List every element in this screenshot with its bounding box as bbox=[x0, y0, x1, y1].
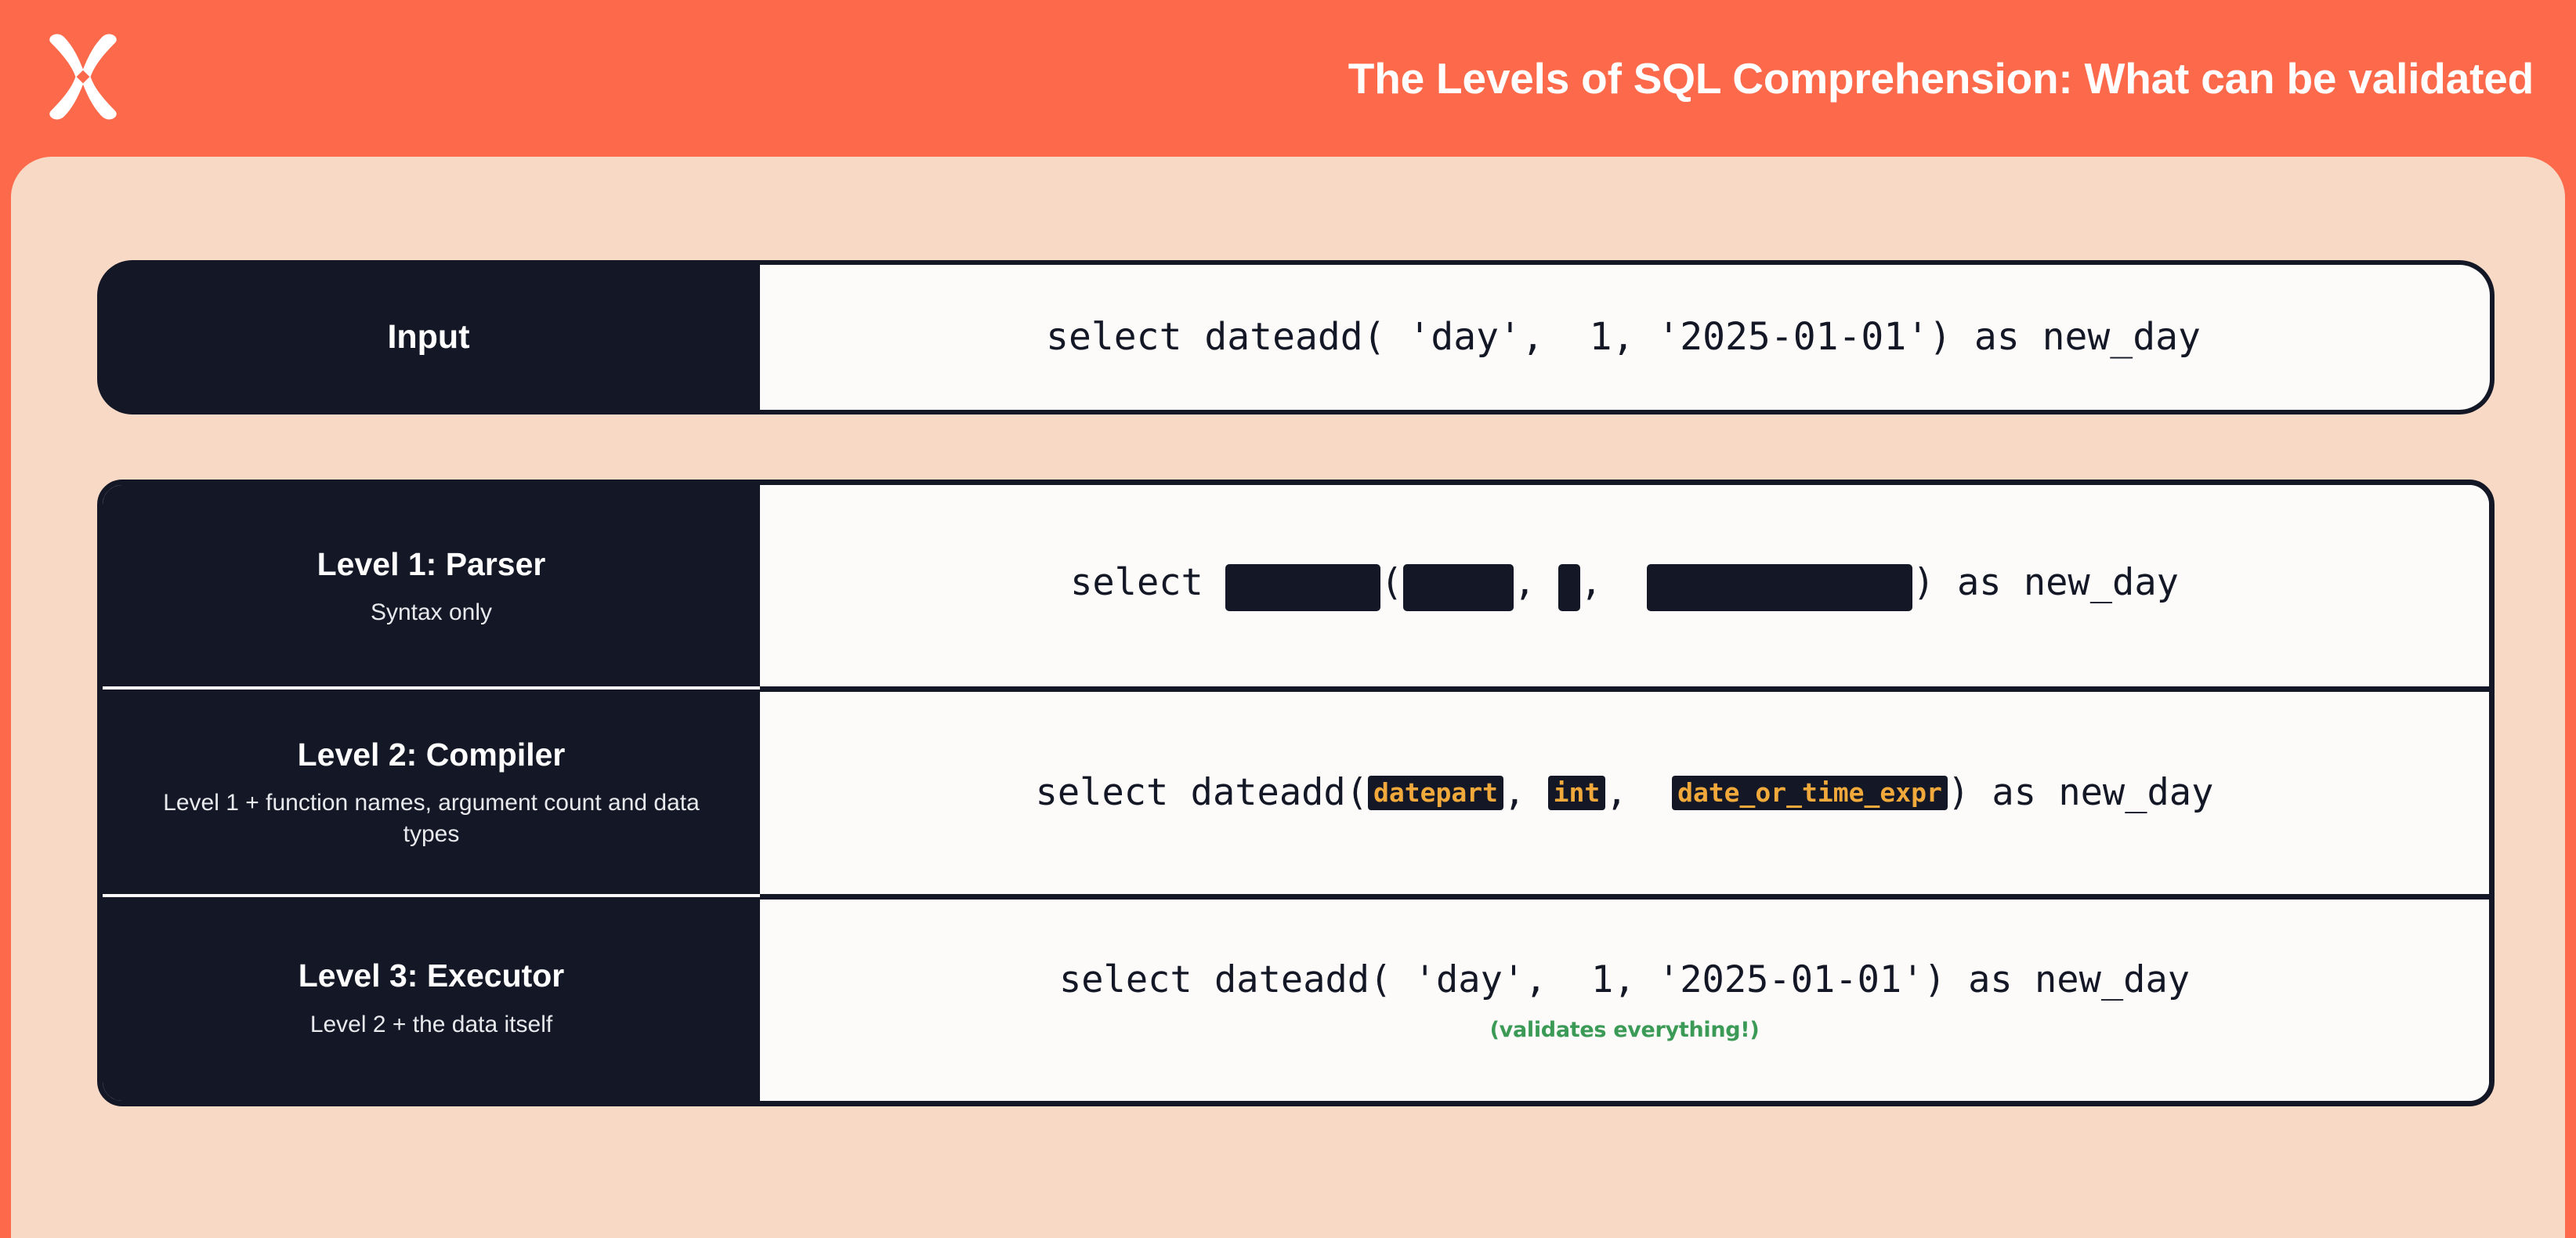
highlighted-token: datepart bbox=[1368, 776, 1503, 810]
content-card: Input select dateadd( 'day', 1, '2025-01… bbox=[11, 157, 2565, 1238]
level-sql-code: select dateadd(datepart, int, date_or_ti… bbox=[1036, 771, 2214, 815]
redacted-token: '2025-01-01' bbox=[1647, 564, 1913, 610]
redacted-token: 'day' bbox=[1403, 564, 1514, 610]
redacted-token: dateadd bbox=[1225, 564, 1380, 610]
level-sql-code: select dateadd('day', 1, '2025-01-01') a… bbox=[1070, 561, 2179, 611]
levels-table: Level 1: Parser Syntax only select datea… bbox=[97, 480, 2495, 1106]
level-title: Level 2: Compiler bbox=[298, 737, 566, 773]
input-label: Input bbox=[97, 260, 760, 414]
level-row: Level 3: Executor Level 2 + the data its… bbox=[103, 900, 2489, 1101]
page-title: The Levels of SQL Comprehension: What ca… bbox=[1348, 57, 2534, 100]
input-row: Input select dateadd( 'day', 1, '2025-01… bbox=[97, 260, 2495, 414]
level-title: Level 1: Parser bbox=[317, 546, 546, 583]
level-row: Level 2: Compiler Level 1 + function nam… bbox=[103, 692, 2489, 899]
level-row: Level 1: Parser Syntax only select datea… bbox=[103, 485, 2489, 692]
input-sql-code: select dateadd( 'day', 1, '2025-01-01') … bbox=[1046, 315, 2201, 360]
butterfly-x-logo bbox=[36, 30, 130, 124]
level-subtitle: Syntax only bbox=[371, 597, 492, 628]
redacted-token: 1 bbox=[1558, 564, 1580, 610]
level-1-label: Level 1: Parser Syntax only bbox=[103, 485, 760, 692]
highlighted-token: int bbox=[1548, 776, 1606, 810]
level-subtitle: Level 2 + the data itself bbox=[310, 1009, 552, 1041]
level-2-code-panel: select dateadd(datepart, int, date_or_ti… bbox=[760, 692, 2489, 893]
input-code-panel: select dateadd( 'day', 1, '2025-01-01') … bbox=[757, 260, 2495, 414]
level-3-label: Level 3: Executor Level 2 + the data its… bbox=[103, 894, 760, 1101]
level-2-label: Level 2: Compiler Level 1 + function nam… bbox=[103, 686, 760, 899]
highlighted-token: date_or_time_expr bbox=[1672, 776, 1948, 810]
validates-note: (validates everything!) bbox=[1490, 1018, 1760, 1042]
level-subtitle: Level 1 + function names, argument count… bbox=[157, 787, 706, 849]
header-bar: The Levels of SQL Comprehension: What ca… bbox=[0, 0, 2576, 157]
infographic-page: The Levels of SQL Comprehension: What ca… bbox=[0, 0, 2576, 1238]
level-3-code-panel: select dateadd( 'day', 1, '2025-01-01') … bbox=[760, 900, 2489, 1101]
level-title: Level 3: Executor bbox=[298, 957, 565, 994]
level-1-code-panel: select dateadd('day', 1, '2025-01-01') a… bbox=[760, 485, 2489, 686]
level-sql-code: select dateadd( 'day', 1, '2025-01-01') … bbox=[1059, 958, 2190, 1002]
